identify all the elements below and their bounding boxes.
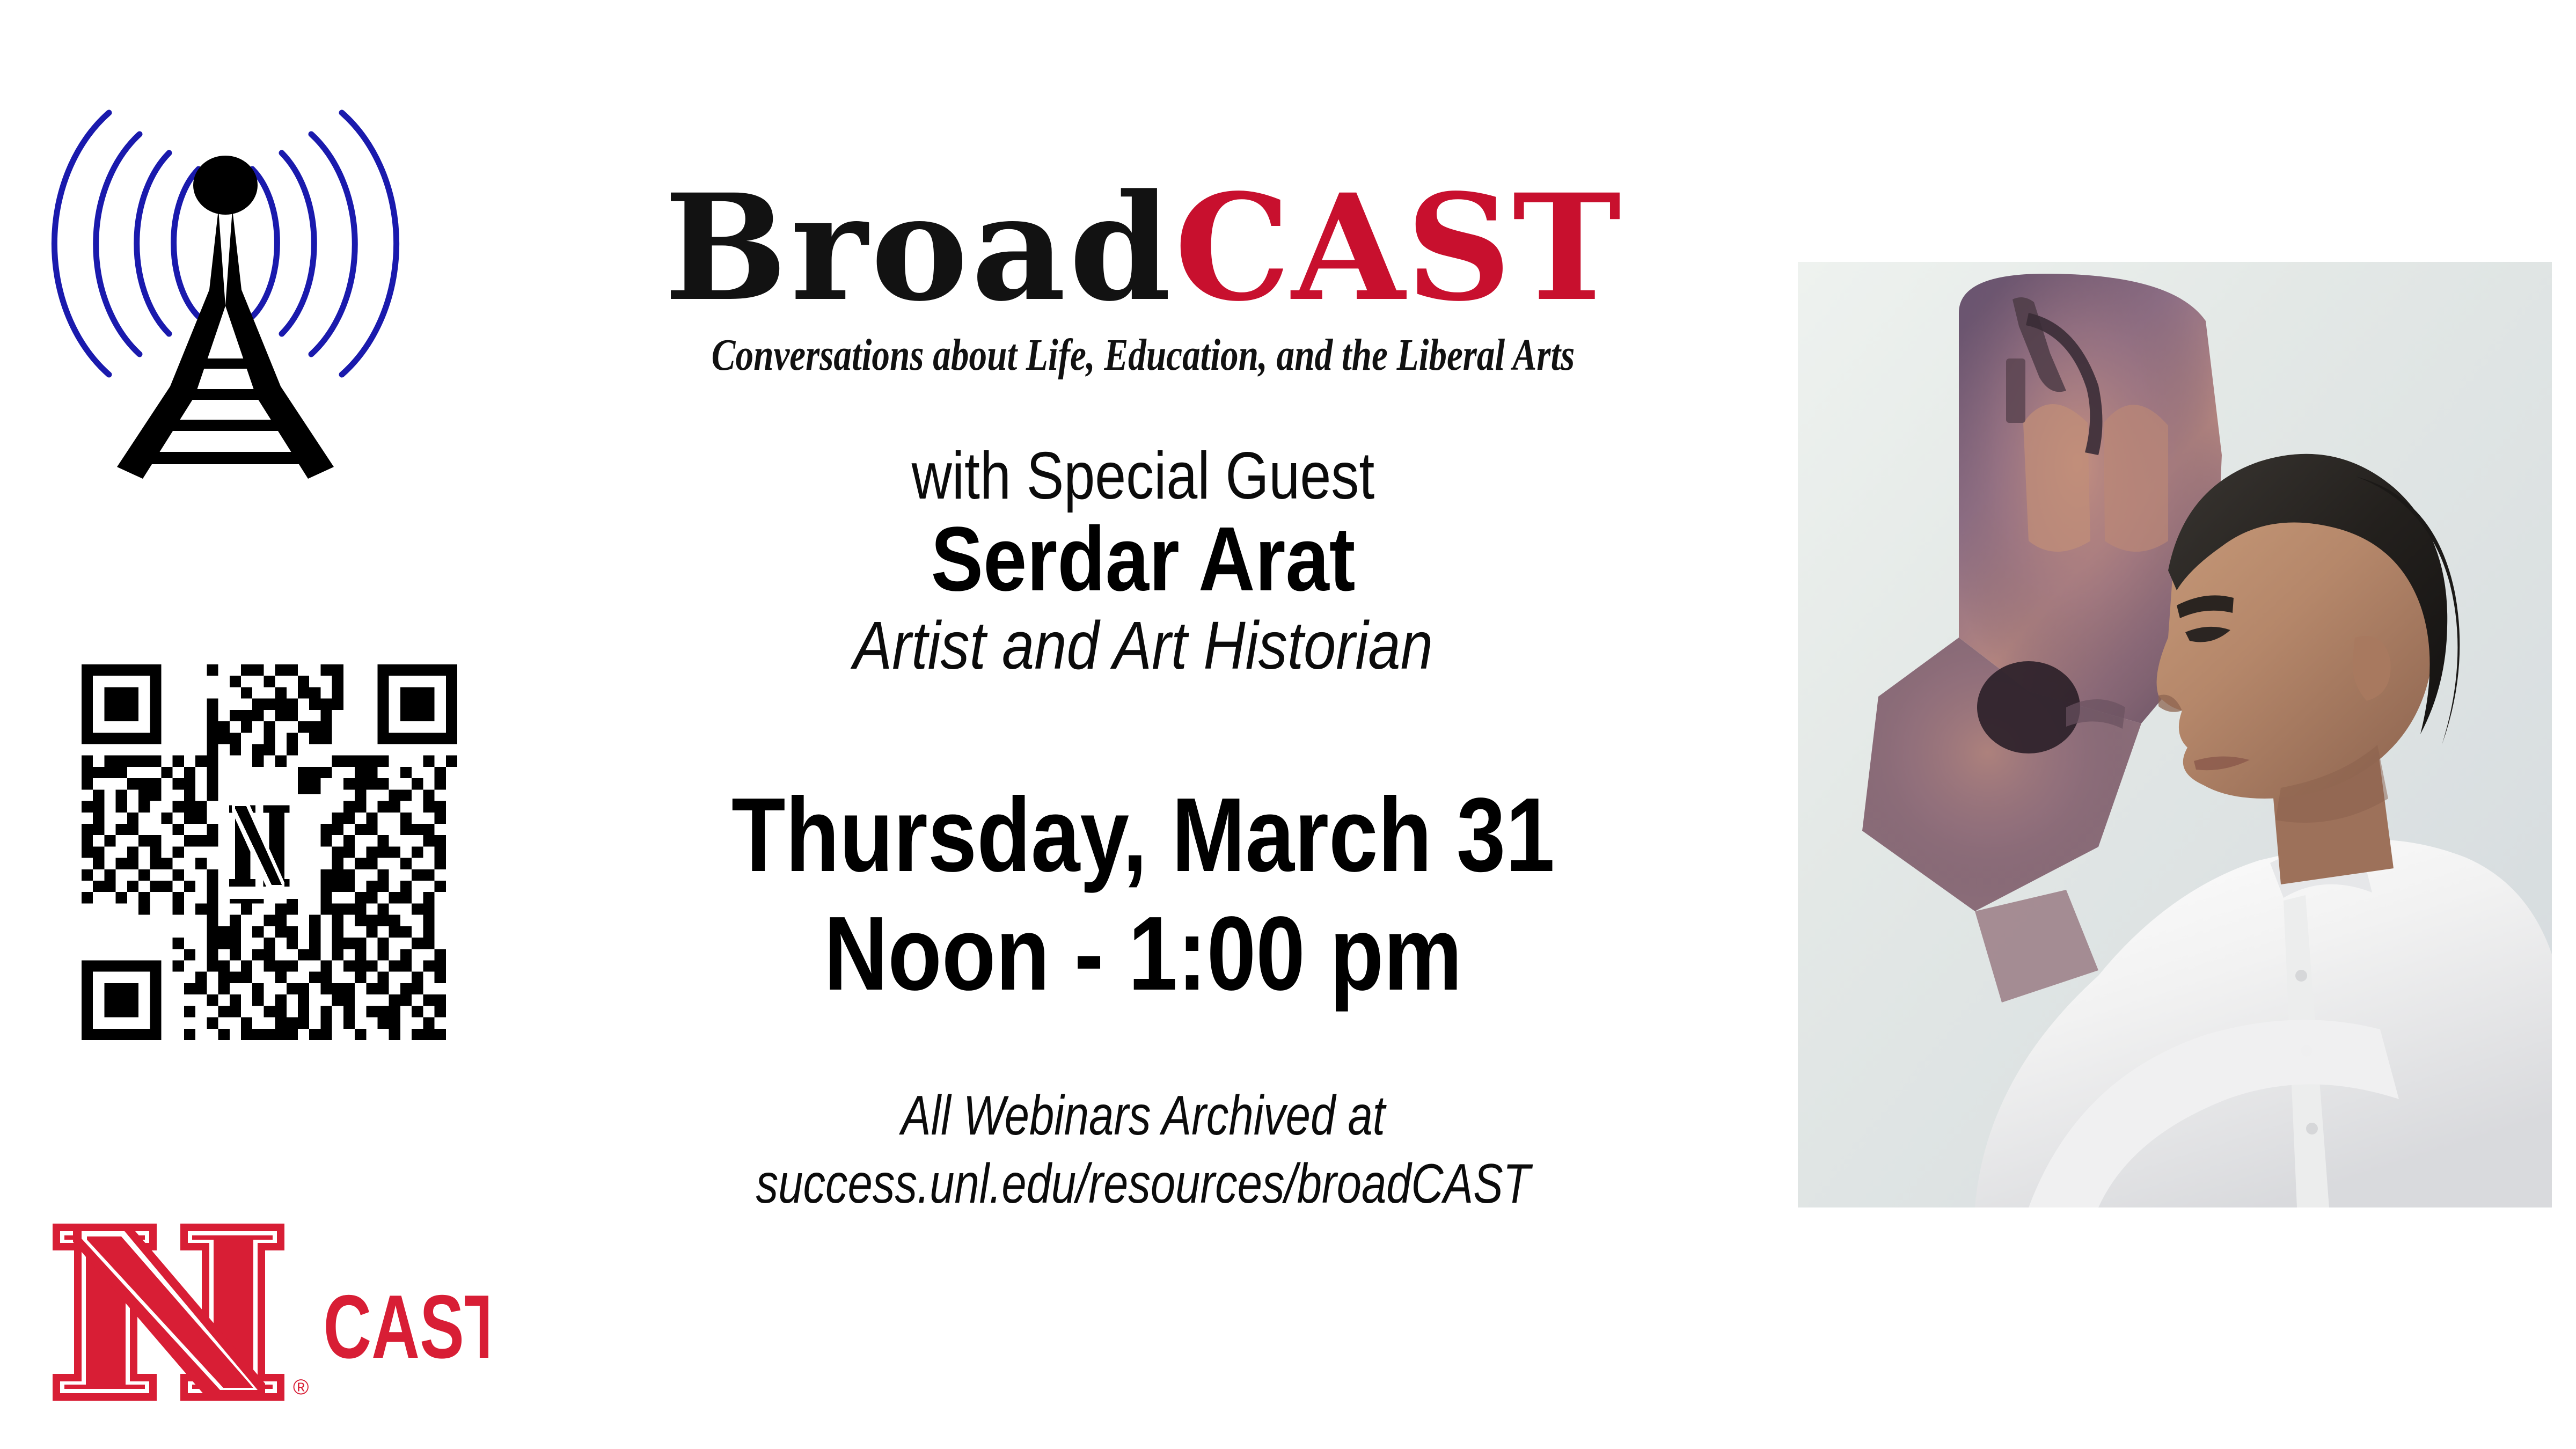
brand-title: BroadCAST: [504, 177, 1782, 320]
tower-crossbar-3: [162, 420, 289, 431]
brand-title-broad: Broad: [664, 163, 1174, 334]
nebraska-n-mark: ®: [53, 1224, 309, 1401]
tower-crossbar-2: [178, 389, 273, 400]
brand-title-cast: CAST: [1174, 163, 1622, 334]
broadcast-tower-icon: [38, 38, 413, 488]
archive-block: All Webinars Archived at success.unl.edu…: [504, 1082, 1782, 1218]
guest-portrait-photo: [1798, 262, 2552, 1207]
guest-role: Artist and Art Historian: [594, 610, 1693, 681]
guest-intro-label: with Special Guest: [606, 441, 1679, 511]
tower-crossbar-1: [192, 358, 259, 369]
brand-tagline: Conversations about Life, Education, and…: [632, 329, 1654, 381]
archive-label: All Webinars Archived at: [632, 1082, 1654, 1150]
qr-code-icon[interactable]: [82, 664, 457, 1040]
cast-wordmark-text: CAST: [323, 1277, 488, 1378]
nebraska-cast-logo: ® CAST: [43, 1217, 488, 1410]
tower-antenna-knob: [193, 156, 258, 215]
archive-url[interactable]: success.unl.edu/resources/broadCAST: [632, 1150, 1654, 1218]
event-time: Noon - 1:00 pm: [606, 894, 1679, 1013]
event-datetime-block: Thursday, March 31 Noon - 1:00 pm: [504, 775, 1782, 1013]
guest-block: with Special Guest Serdar Arat Artist an…: [504, 441, 1782, 681]
tower-signal-arcs-left: [54, 113, 199, 375]
registered-trademark-mark: ®: [293, 1375, 309, 1399]
event-date: Thursday, March 31: [606, 775, 1679, 894]
tower-signal-arcs-right: [252, 113, 397, 375]
tower-crossbar-4: [143, 452, 308, 464]
main-text-column: BroadCAST Conversations about Life, Educ…: [504, 177, 1782, 1218]
qr-center-nebraska-n: [218, 794, 321, 899]
guest-name: Serdar Arat: [594, 512, 1693, 607]
